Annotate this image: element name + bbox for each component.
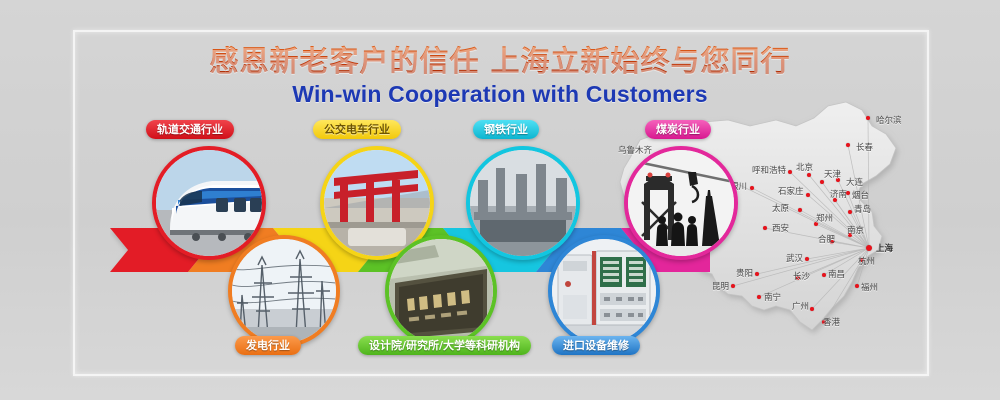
city-label: 青岛 bbox=[854, 203, 871, 215]
city-dot bbox=[810, 307, 814, 311]
city-dot bbox=[788, 170, 792, 174]
city-label: 长春 bbox=[856, 141, 873, 153]
city-label: 上海 bbox=[876, 242, 893, 254]
industry-label-steel[interactable]: 钢铁行业 bbox=[473, 120, 539, 139]
city-label: 太原 bbox=[772, 202, 789, 214]
city-dot bbox=[763, 226, 767, 230]
city-label: 石家庄 bbox=[778, 185, 804, 197]
power-plant-photo bbox=[232, 239, 336, 343]
city-dot bbox=[846, 143, 850, 147]
city-label: 福州 bbox=[861, 281, 878, 293]
city-dot bbox=[798, 208, 802, 212]
city-dot bbox=[806, 193, 810, 197]
city-label: 济南 bbox=[830, 188, 847, 200]
city-label: 南京 bbox=[847, 224, 864, 236]
industry-label-power[interactable]: 发电行业 bbox=[235, 336, 301, 355]
city-label: 北京 bbox=[796, 161, 813, 173]
university-sign-photo bbox=[389, 239, 493, 343]
city-label: 天津 bbox=[824, 168, 841, 180]
city-label: 哈尔滨 bbox=[876, 114, 902, 126]
industry-label-coal[interactable]: 煤炭行业 bbox=[645, 120, 711, 139]
page-title: 感恩新老客户的信任 上海立新始终与您同行 bbox=[0, 44, 1000, 78]
city-dot bbox=[820, 180, 824, 184]
city-dot bbox=[866, 245, 872, 251]
city-label: 郑州 bbox=[816, 212, 833, 224]
equipment-cabinet-photo bbox=[552, 239, 656, 343]
city-label: 南昌 bbox=[828, 268, 845, 280]
city-dot bbox=[866, 116, 870, 120]
city-label: 杭州 bbox=[858, 255, 875, 267]
city-label: 烟台 bbox=[852, 189, 869, 201]
industry-photo-power[interactable] bbox=[228, 235, 340, 347]
city-dot bbox=[855, 284, 859, 288]
stone-plaque-icon bbox=[389, 239, 493, 343]
city-dot bbox=[757, 295, 761, 299]
industry-label-equipment[interactable]: 进口设备维修 bbox=[552, 336, 640, 355]
city-label: 南宁 bbox=[764, 291, 781, 303]
city-dot bbox=[805, 257, 809, 261]
power-lines-icon bbox=[232, 239, 336, 343]
control-cabinet-icon bbox=[552, 239, 656, 343]
city-label: 昆明 bbox=[712, 280, 729, 292]
city-label: 大连 bbox=[846, 176, 863, 188]
page-subtitle: Win-win Cooperation with Customers bbox=[0, 80, 1000, 108]
city-dot bbox=[807, 173, 811, 177]
city-dot bbox=[731, 284, 735, 288]
city-label: 长沙 bbox=[793, 270, 810, 282]
city-dot bbox=[822, 273, 826, 277]
city-dot bbox=[755, 272, 759, 276]
city-label: 广州 bbox=[792, 300, 809, 312]
city-dot bbox=[750, 186, 754, 190]
industry-photo-equipment[interactable] bbox=[548, 235, 660, 347]
industry-label-research[interactable]: 设计院/研究所/大学等科研机构 bbox=[358, 336, 531, 355]
promo-banner: 哈尔滨长春大连北京天津烟台呼和浩特石家庄济南青岛太原银川乌鲁木齐郑州西安合肥南京… bbox=[0, 0, 1000, 400]
city-label: 香港 bbox=[823, 316, 840, 328]
city-label: 西安 bbox=[772, 222, 789, 234]
industry-label-bus[interactable]: 公交电车行业 bbox=[313, 120, 401, 139]
industry-photo-research[interactable] bbox=[385, 235, 497, 347]
city-dot bbox=[848, 210, 852, 214]
city-label: 武汉 bbox=[786, 252, 803, 264]
city-label: 合肥 bbox=[818, 233, 835, 245]
city-label: 贵阳 bbox=[736, 267, 753, 279]
city-label: 呼和浩特 bbox=[752, 164, 786, 176]
industry-label-rail[interactable]: 轨道交通行业 bbox=[146, 120, 234, 139]
title-block: 感恩新老客户的信任 上海立新始终与您同行 Win-win Cooperation… bbox=[0, 44, 1000, 108]
